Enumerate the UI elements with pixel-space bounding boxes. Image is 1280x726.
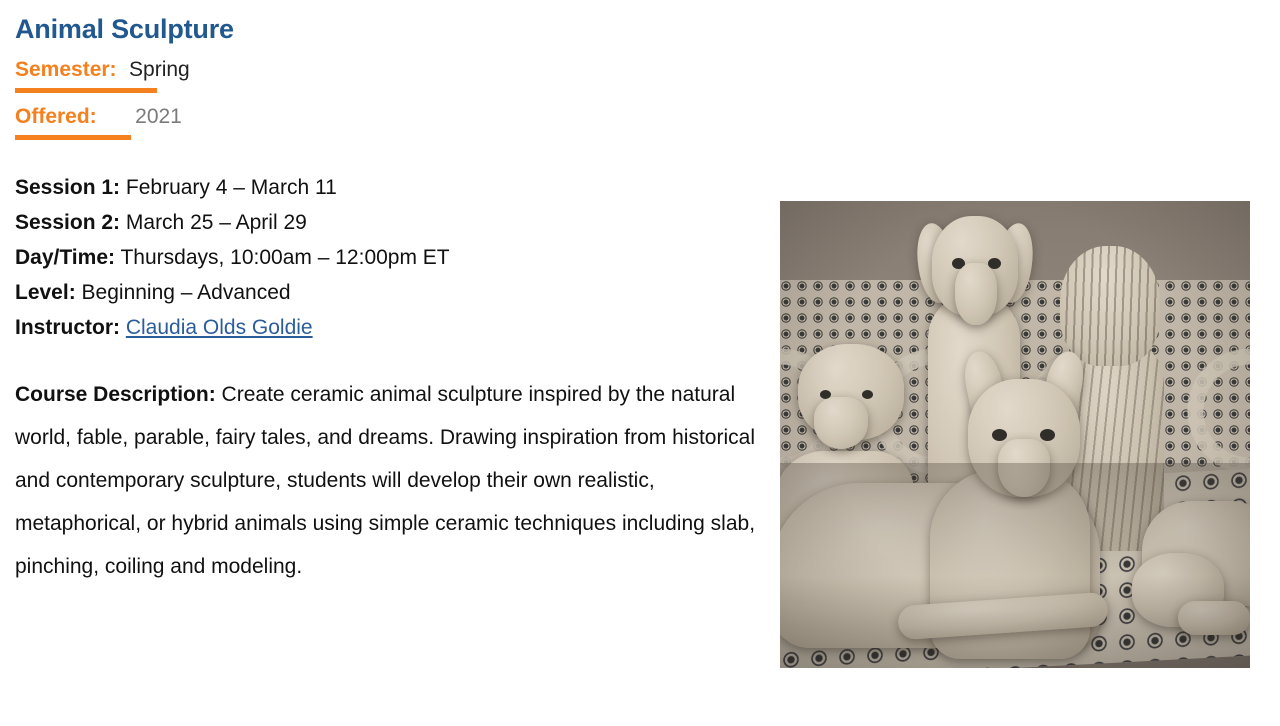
- level-value: Beginning – Advanced: [82, 281, 291, 304]
- offered-label: Offered:: [15, 102, 97, 132]
- semester-value: Spring: [129, 55, 190, 85]
- meta-row-offered: Offered: 2021: [15, 102, 775, 140]
- course-text-column: Animal Sculpture Semester: Spring Offere…: [15, 0, 775, 588]
- detail-session-2: Session 2: March 25 – April 29: [15, 205, 775, 240]
- session-2-label: Session 2:: [15, 211, 120, 234]
- detail-instructor: Instructor: Claudia Olds Goldie: [15, 310, 775, 345]
- day-time-value: Thursdays, 10:00am – 12:00pm ET: [120, 246, 449, 269]
- session-1-value: February 4 – March 11: [126, 176, 337, 199]
- detail-level: Level: Beginning – Advanced: [15, 275, 775, 310]
- day-time-label: Day/Time:: [15, 246, 115, 269]
- session-1-label: Session 1:: [15, 176, 120, 199]
- course-description: Course Description: Create ceramic anima…: [15, 373, 760, 588]
- detail-day-time: Day/Time: Thursdays, 10:00am – 12:00pm E…: [15, 240, 775, 275]
- meta-row-semester: Semester: Spring: [15, 55, 775, 93]
- instructor-label: Instructor:: [15, 316, 120, 339]
- semester-label: Semester:: [15, 55, 117, 85]
- level-label: Level:: [15, 281, 76, 304]
- section-spacer: [15, 140, 775, 170]
- course-photo: [780, 201, 1250, 668]
- semester-underline-rule: [15, 88, 157, 93]
- page-title: Animal Sculpture: [15, 12, 775, 46]
- photo-scene: [780, 201, 1250, 668]
- detail-session-1: Session 1: February 4 – March 11: [15, 170, 775, 205]
- photo-vignette: [780, 201, 1250, 668]
- course-details-list: Session 1: February 4 – March 11 Session…: [15, 170, 775, 345]
- course-page: Animal Sculpture Semester: Spring Offere…: [0, 0, 1280, 726]
- offered-value: 2021: [135, 102, 182, 132]
- course-description-label: Course Description:: [15, 383, 216, 406]
- instructor-link[interactable]: Claudia Olds Goldie: [126, 316, 313, 339]
- session-2-value: March 25 – April 29: [126, 211, 307, 234]
- course-description-text: Create ceramic animal sculpture inspired…: [15, 383, 755, 578]
